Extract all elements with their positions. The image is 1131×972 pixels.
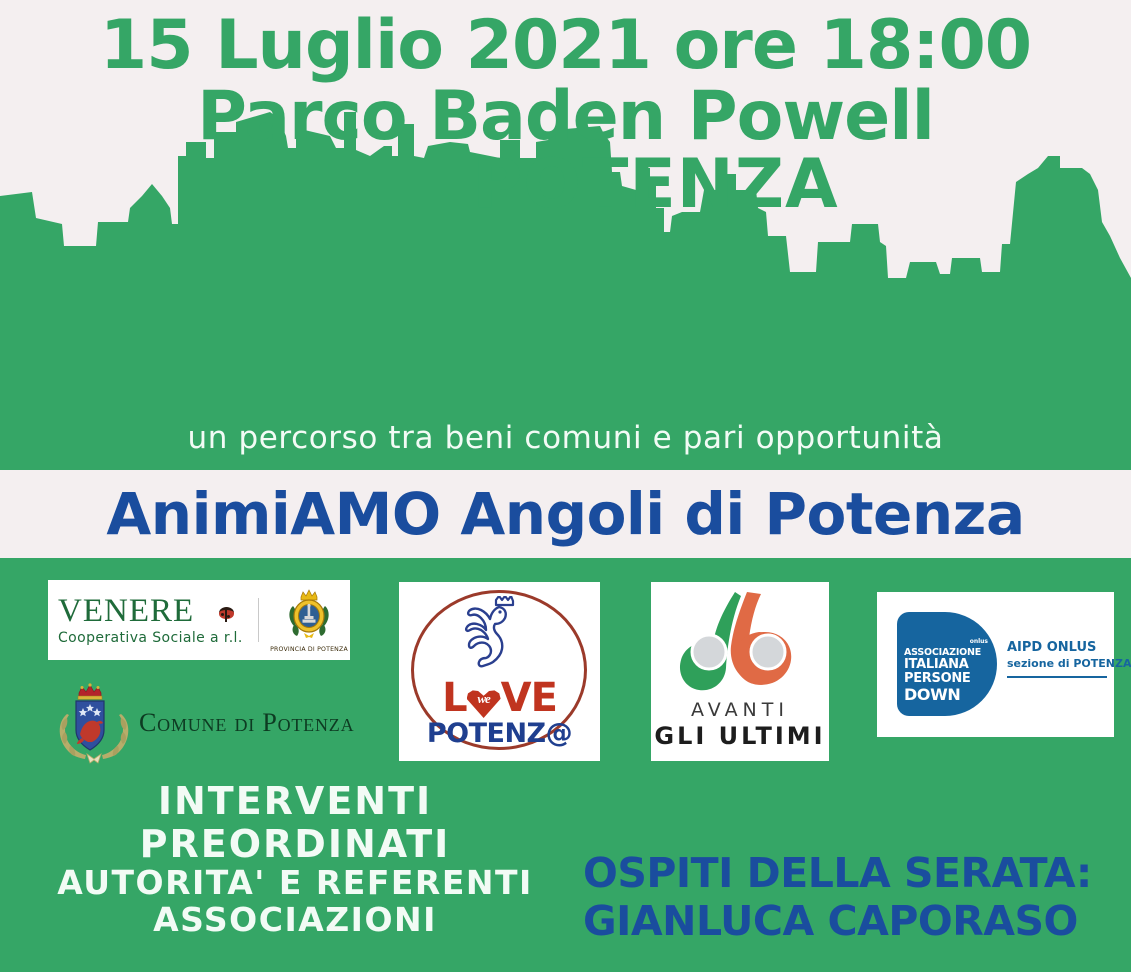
event-poster: 15 Luglio 2021 ore 18:00 Parco Baden Pow…: [0, 0, 1131, 972]
programme-line2: PREORDINATI: [0, 823, 590, 866]
provincia-block: PROVINCIA DI POTENZA: [269, 588, 349, 653]
venere-wordmark: VENERE Cooperativa Sociale a r.l.: [48, 595, 248, 646]
programme-line4: ASSOCIAZIONI: [0, 902, 590, 939]
programme-line3: AUTORITA' E REFERENTI: [0, 865, 590, 902]
aipd-onlus-text: onlus: [970, 638, 988, 645]
venere-name: VENERE: [58, 595, 248, 628]
headline-block: 15 Luglio 2021 ore 18:00 Parco Baden Pow…: [0, 14, 1131, 218]
comune-label: Comune di Potenza: [139, 708, 354, 738]
logo-avanti-gli-ultimi: AVANTI GLI ULTIMI: [651, 582, 829, 761]
logo-venere-provincia: VENERE Cooperativa Sociale a r.l.: [48, 580, 350, 660]
venere-subtitle: Cooperativa Sociale a r.l.: [58, 630, 248, 646]
aipd-line-italiana: ITALIANA: [904, 658, 981, 672]
aipd-title: AIPD ONLUS: [1007, 640, 1107, 655]
aipd-d-mark-icon: onlus ASSOCIAZIONE ITALIANA PERSONE DOWN: [897, 612, 997, 716]
aipd-section: sezione di POTENZA: [1007, 657, 1107, 670]
headline-venue: Parco Baden Powell: [0, 85, 1131, 150]
programme-line1: INTERVENTI: [0, 780, 590, 823]
aipd-section-block: AIPD ONLUS sezione di POTENZA: [1007, 640, 1107, 670]
ladybug-icon: [219, 607, 234, 619]
poster-header: 15 Luglio 2021 ore 18:00 Parco Baden Pow…: [0, 0, 1131, 470]
aipd-wordmark: ASSOCIAZIONE ITALIANA PERSONE DOWN: [904, 648, 981, 703]
avanti-mark-icon: [663, 590, 817, 700]
logo-aipd-onlus: onlus ASSOCIAZIONE ITALIANA PERSONE DOWN…: [877, 592, 1114, 737]
provincia-label: PROVINCIA DI POTENZA: [269, 646, 349, 653]
sponsor-logo-row: VENERE Cooperativa Sociale a r.l.: [0, 580, 1131, 765]
venere-name-text: VENERE: [58, 593, 194, 629]
headline-date: 15 Luglio 2021 ore 18:00: [0, 14, 1131, 79]
event-title: AnimiAMO Angoli di Potenza: [106, 480, 1024, 548]
logo-divider: [258, 598, 259, 642]
we-text: we: [467, 692, 501, 705]
tagline-strip: un percorso tra beni comuni e pari oppor…: [0, 406, 1131, 470]
aipd-line-down: DOWN: [904, 686, 981, 703]
tagline-text: un percorso tra beni comuni e pari oppor…: [188, 420, 944, 456]
avanti-line2: GLI ULTIMI: [651, 722, 829, 750]
logo-we-love-potenza: LweVE POTENZ@: [399, 582, 600, 761]
aipd-line-persone: PERSONE: [904, 672, 981, 686]
event-title-band: AnimiAMO Angoli di Potenza: [0, 470, 1131, 558]
programme-block: INTERVENTI PREORDINATI AUTORITA' E REFER…: [0, 780, 590, 939]
love-wordmark: LweVE: [399, 678, 600, 718]
logo-comune-di-potenza: Comune di Potenza: [55, 680, 365, 765]
provincia-crest-icon: [286, 588, 332, 640]
potenza-wordmark: POTENZ@: [399, 718, 600, 749]
aipd-underline: [1007, 676, 1107, 678]
comune-crest-icon: [55, 682, 133, 764]
love-L: L: [442, 675, 467, 721]
headline-city: POTENZA: [0, 153, 1131, 218]
guests-label: OSPITI DELLA SERATA:: [583, 850, 1131, 898]
poster-body: VENERE Cooperativa Sociale a r.l.: [0, 558, 1131, 972]
avanti-line1: AVANTI: [651, 699, 829, 721]
heart-we-icon: we: [467, 685, 501, 717]
love-VE: VE: [501, 675, 557, 721]
lion-rampant-icon: [455, 596, 533, 678]
guests-block: OSPITI DELLA SERATA: GIANLUCA CAPORASO: [583, 850, 1131, 945]
guests-name: GIANLUCA CAPORASO: [583, 898, 1131, 946]
